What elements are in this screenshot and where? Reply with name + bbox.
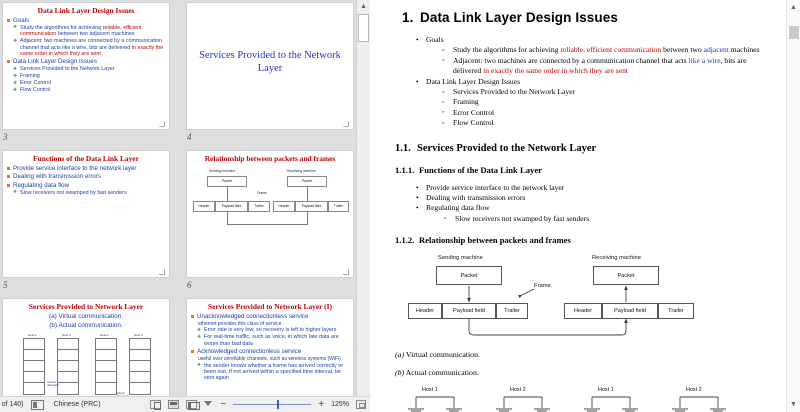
- slide-bullet-l2: Flow Control: [6, 87, 166, 93]
- slide-bullet-l2: Study the algorithms for achieving relia…: [6, 25, 166, 38]
- list-item: ◦Flow Control: [442, 118, 764, 128]
- document-scrollbar[interactable]: ▲ ▼: [786, 0, 800, 412]
- slide-cell[interactable]: Services Provided to Network Layer (I) U…: [186, 298, 362, 412]
- list-item-label: Dealing with transmission errors: [426, 193, 525, 202]
- slide-number: 3: [3, 132, 8, 142]
- trailer-box-receiver: Trailer: [658, 303, 694, 319]
- slide-bullet-l2: Adjacent: two machines are connected by …: [6, 38, 166, 57]
- bullet-circle-icon: ◦: [442, 45, 444, 55]
- list-item: •Data Link Layer Design Issues ◦Services…: [416, 77, 764, 129]
- heading-text: Functions of the Data Link Layer: [419, 165, 542, 175]
- slide-bullet-l2: Services Provided to the Network Layer: [6, 66, 166, 72]
- list-item: ◦Services Provided to the Network Layer: [442, 87, 764, 97]
- doc-functions-sublist: ◦Slow receivers not swamped by fast send…: [444, 214, 764, 224]
- slide-grid: Data Link Layer Design Issues Goals Stud…: [0, 0, 370, 412]
- slide-thumbnail-pane[interactable]: Data Link Layer Design Issues Goals Stud…: [0, 0, 370, 412]
- bullet-disc-icon: •: [416, 183, 419, 193]
- bullet-circle-icon: ◦: [442, 118, 444, 128]
- slide-bullet-l3: ethernet provides this class of service: [190, 321, 350, 327]
- scroll-down-icon[interactable]: ▼: [787, 398, 800, 410]
- slide-corner-mark: [159, 121, 165, 127]
- slide-thumbnail-4[interactable]: Services Provided to the Network Layer: [186, 2, 354, 130]
- slide-cell[interactable]: Services Provided to Network Layer (a) V…: [2, 298, 178, 412]
- slide-bullet-l1: Data Link Layer Design Issues: [6, 58, 166, 65]
- host-label: Host 2: [134, 333, 143, 337]
- list-item-label: Framing: [453, 97, 479, 106]
- caption-text: Actual communication.: [404, 368, 479, 377]
- slide-bullet-l1: Unacknowledged connectionless service: [190, 313, 350, 320]
- bullet-disc-icon: •: [416, 35, 419, 45]
- language-indicator[interactable]: Chinese (PRC): [53, 401, 100, 408]
- slide-corner-mark: [343, 121, 349, 127]
- slide-number: 6: [187, 280, 192, 290]
- slide-thumbnail-5[interactable]: Functions of the Data Link Layer Provide…: [2, 150, 170, 278]
- host-label: Host 2: [510, 387, 526, 393]
- list-item: ◦Adjacent: two machines are connected by…: [442, 56, 764, 77]
- heading-text: Data Link Layer Design Issues: [420, 10, 618, 25]
- heading-text: Relationship between packets and frames: [419, 235, 571, 245]
- list-item-label: Regulating data flow: [426, 203, 490, 212]
- trailer-box-receiver: Trailer: [328, 201, 349, 212]
- payload-box-sender: Payload field: [215, 201, 248, 212]
- slide-bullet-l1: Acknowledged connectionless service: [190, 348, 350, 355]
- scroll-up-icon[interactable]: ▲: [787, 1, 800, 13]
- figure-host-communication: Host 1 Host 2 Host 1 Host 2: [394, 383, 784, 412]
- figure-host-lines: [394, 383, 784, 412]
- list-item: •Regulating data flow ◦Slow receivers no…: [416, 203, 764, 224]
- scrollbar-thumb[interactable]: [789, 26, 799, 39]
- slide-thumbnail-3[interactable]: Data Link Layer Design Issues Goals Stud…: [2, 2, 170, 130]
- list-item: •Provide service interface to the networ…: [416, 183, 764, 193]
- connector: [307, 212, 308, 224]
- figure-packets-and-frames: Sending machine Packet Receiving machine…: [394, 255, 784, 341]
- status-bar: e 4 of 140) Chinese (PRC) − + 125%: [0, 396, 370, 412]
- slide-bullet-l1: Goals: [6, 17, 166, 24]
- frame-label: Frame: [534, 283, 551, 289]
- bullet-circle-icon: ◦: [442, 55, 444, 65]
- slide-cell[interactable]: Data Link Layer Design Issues Goals Stud…: [2, 2, 178, 148]
- zoom-slider-handle[interactable]: [277, 400, 279, 409]
- bullet-circle-icon: ◦: [442, 107, 444, 117]
- payload-box-sender: Payload field: [442, 303, 496, 319]
- zoom-level-label[interactable]: 125%: [331, 401, 349, 408]
- caption-marker: (b): [395, 368, 404, 377]
- slide-body: Goals Study the algorithms for achieving…: [3, 17, 169, 93]
- doc-outline-level1: •Goals ◦Study the algorithms for achievi…: [416, 35, 764, 129]
- list-item: ◦Study the algorithms for achieving reli…: [442, 45, 764, 55]
- slide-bullet-l2: Error Control: [6, 80, 166, 86]
- slide-thumbnail-6[interactable]: Relationship between packets and frames …: [186, 150, 354, 278]
- connector: [227, 187, 228, 201]
- list-item-label: Slow receivers not swamped by fast sende…: [455, 214, 589, 223]
- slide-bullet-l3: useful over unreliable channels, such as…: [190, 356, 350, 362]
- slide-thumbnail-7[interactable]: Services Provided to Network Layer (a) V…: [2, 298, 170, 412]
- trailer-box-sender: Trailer: [496, 303, 528, 319]
- slide-subtitle: (a) Virtual communication.: [3, 313, 169, 321]
- book-view-icon[interactable]: [186, 400, 197, 409]
- packet-box-sender: Packet: [436, 266, 502, 285]
- slide-corner-mark: [343, 269, 349, 275]
- bullet-circle-icon: ◦: [444, 213, 446, 223]
- list-item: ◦Framing: [442, 97, 764, 107]
- heading-number: 1.1.: [395, 143, 417, 154]
- figure-caption-b: (b) Actual communication.: [395, 368, 764, 377]
- list-item-label: Study the algorithms for achieving relia…: [453, 45, 759, 54]
- page-indicator: e 4 of 140): [0, 401, 23, 408]
- slide-subtitle: (b) Actual communication.: [3, 322, 169, 330]
- page-view-icon[interactable]: [31, 400, 44, 410]
- fit-page-icon[interactable]: [356, 400, 366, 409]
- slide-thumbnail-8[interactable]: Services Provided to Network Layer (I) U…: [186, 298, 354, 412]
- list-item-label: Services Provided to the Network Layer: [453, 87, 575, 96]
- connector: [227, 224, 308, 225]
- header-box-sender: Header: [193, 201, 215, 212]
- caption-marker: (a): [395, 350, 404, 359]
- list-item: •Goals ◦Study the algorithms for achievi…: [416, 35, 764, 77]
- slide-title: Relationship between packets and frames: [187, 151, 353, 164]
- figure-caption-a: (a) Virtual communication.: [395, 350, 764, 359]
- list-item-label: Error Control: [453, 108, 494, 117]
- slide-body: Unacknowledged connectionless service et…: [187, 313, 353, 382]
- packet-box-receiver: Packet: [593, 266, 659, 285]
- application-window: Data Link Layer Design Issues Goals Stud…: [0, 0, 800, 412]
- slide-title: Functions of the Data Link Layer: [3, 151, 169, 164]
- slide-diagram-frames: Sending machine Packet Receiving machine…: [187, 169, 353, 255]
- slide-bullet-l1: Provide service interface to the network…: [6, 165, 166, 172]
- header-box-sender: Header: [408, 303, 442, 319]
- multi-page-view-icon[interactable]: [168, 400, 179, 409]
- heading-number: 1.1.2.: [395, 235, 419, 245]
- host-label: Host 1: [422, 387, 438, 393]
- slide-bullet-l2: Slow receivers not swamped by fast sende…: [6, 190, 166, 196]
- slide-bullet-l1: Dealing with transmission errors: [6, 173, 166, 180]
- slide-body: Provide service interface to the network…: [3, 165, 169, 196]
- heading-number: 1.1.1.: [395, 165, 419, 175]
- scrollbar-thumb[interactable]: [358, 14, 369, 42]
- sending-machine-label: Sending machine: [209, 169, 235, 173]
- slide-bullet-l1: Regulating data flow: [6, 182, 166, 189]
- slide-cell[interactable]: Services Provided to the Network Layer 4: [186, 2, 362, 148]
- zoom-in-button[interactable]: +: [318, 400, 324, 410]
- slide-number: 5: [3, 280, 8, 290]
- list-item-label: Goals: [426, 35, 444, 44]
- bullet-circle-icon: ◦: [442, 97, 444, 107]
- view-controls: − + 125%: [150, 400, 370, 410]
- receiving-machine-label: Receiving machine: [287, 169, 316, 173]
- doc-functions-list: •Provide service interface to the networ…: [416, 183, 764, 225]
- slide-center-title: Services Provided to the Network Layer: [187, 49, 353, 75]
- list-item: •Dealing with transmission errors: [416, 193, 764, 203]
- slide-cell[interactable]: Relationship between packets and frames …: [186, 150, 362, 296]
- slide-title: Data Link Layer Design Issues: [3, 3, 169, 16]
- funnel-icon[interactable]: [204, 400, 213, 409]
- slide-cell[interactable]: Functions of the Data Link Layer Provide…: [2, 150, 178, 296]
- doc-heading-3-functions: 1.1.1.Functions of the Data Link Layer: [395, 165, 764, 175]
- doc-heading-2: 1.1.Services Provided to the Network Lay…: [395, 143, 764, 154]
- doc-outline-level2: ◦Services Provided to the Network Layer …: [442, 87, 764, 129]
- frame-label: Frame: [257, 191, 267, 195]
- packet-box-receiver: Packet: [287, 176, 327, 187]
- doc-heading-3-relationship: 1.1.2.Relationship between packets and f…: [395, 235, 764, 245]
- payload-box-receiver: Payload field: [602, 303, 658, 319]
- heading-number: 1.: [402, 10, 420, 25]
- list-item-label: Adjacent: two machines are connected by …: [453, 56, 747, 75]
- host-label: Host 2: [62, 333, 71, 337]
- document-pane[interactable]: 1.Data Link Layer Design Issues •Goals ◦…: [370, 0, 800, 412]
- receiving-machine-label: Receiving machine: [592, 255, 641, 261]
- host-label: Host 1: [598, 387, 614, 393]
- header-box-receiver: Header: [273, 201, 295, 212]
- bullet-disc-icon: •: [416, 203, 419, 213]
- bullet-disc-icon: •: [416, 77, 419, 87]
- connector: [307, 187, 308, 201]
- slide-bullet-l2: For real-time traffic, such as voice, in…: [190, 334, 350, 347]
- zoom-out-button[interactable]: −: [220, 400, 226, 410]
- payload-box-receiver: Payload field: [295, 201, 328, 212]
- slide-pane-scrollbar[interactable]: ▲ ▼: [356, 0, 370, 412]
- list-item-label: Flow Control: [453, 118, 494, 127]
- doc-outline-level2: ◦Study the algorithms for achieving reli…: [442, 45, 764, 76]
- document-content: 1.Data Link Layer Design Issues •Goals ◦…: [370, 0, 786, 412]
- slide-number: 4: [187, 132, 192, 142]
- host-label: Host 1: [28, 333, 37, 337]
- bullet-circle-icon: ◦: [442, 87, 444, 97]
- connector: [227, 212, 228, 224]
- trailer-box-sender: Trailer: [248, 201, 270, 212]
- host-label: Host 2: [686, 387, 702, 393]
- list-item: ◦Error Control: [442, 108, 764, 118]
- slide-bullet-l2: Error rate is very low, so recovery is l…: [190, 327, 350, 333]
- zoom-slider[interactable]: [233, 404, 311, 405]
- heading-text: Services Provided to the Network Layer: [417, 143, 596, 154]
- scroll-up-icon[interactable]: ▲: [357, 0, 370, 13]
- list-item-label: Data Link Layer Design Issues: [426, 77, 520, 86]
- doc-heading-1: 1.Data Link Layer Design Issues: [402, 10, 764, 25]
- sending-machine-label: Sending machine: [438, 255, 483, 261]
- slide-bullet-l2: Framing: [6, 73, 166, 79]
- single-page-view-icon[interactable]: [150, 400, 161, 409]
- caption-text: Virtual communication.: [404, 350, 480, 359]
- list-item: ◦Slow receivers not swamped by fast send…: [444, 214, 764, 224]
- packet-box-sender: Packet: [207, 176, 247, 187]
- slide-title: Services Provided to Network Layer: [3, 299, 169, 312]
- list-item-label: Provide service interface to the network…: [426, 183, 564, 192]
- slide-corner-mark: [159, 269, 165, 275]
- slide-title: Services Provided to Network Layer (I): [187, 299, 353, 312]
- bullet-disc-icon: •: [416, 193, 419, 203]
- host-label: Host 1: [100, 333, 109, 337]
- slide-bullet-l2: the sender knows whether a frame has arr…: [190, 363, 350, 382]
- header-box-receiver: Header: [564, 303, 602, 319]
